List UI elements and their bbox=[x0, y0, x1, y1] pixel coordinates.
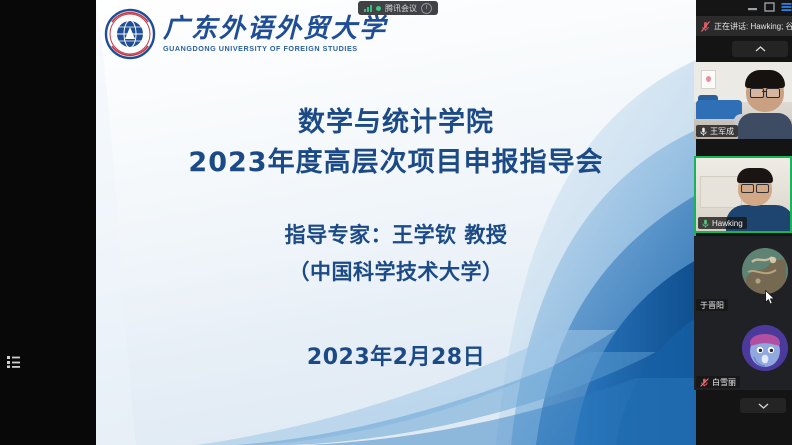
active-speaker-text: 正在讲话: Hawking; 谷 bbox=[714, 21, 792, 32]
maximize-icon bbox=[764, 2, 775, 12]
mic-muted-icon bbox=[700, 378, 709, 387]
mic-muted-icon bbox=[701, 21, 710, 32]
slide-title-line-2: 2023年度高层次项目申报指导会 bbox=[96, 140, 696, 179]
mic-on-icon bbox=[700, 127, 707, 136]
slide-affiliation-line: （中国科学技术大学） bbox=[96, 256, 696, 286]
slide-title-line-1: 数学与统计学院 bbox=[96, 100, 696, 139]
avatar-artwork-icon bbox=[742, 248, 788, 294]
chevron-up-icon bbox=[755, 46, 766, 52]
participant-tile[interactable]: Hawking bbox=[694, 156, 792, 233]
slide-text-body: 数学与统计学院 2023年度高层次项目申报指导会 指导专家：王学钦 教授 （中国… bbox=[96, 0, 696, 445]
avatar-artwork-icon bbox=[742, 325, 788, 371]
maximize-button[interactable] bbox=[764, 2, 775, 12]
mouse-cursor bbox=[765, 290, 776, 305]
chevron-down-icon bbox=[758, 403, 769, 409]
mic-on-icon bbox=[702, 219, 709, 228]
avatar bbox=[742, 248, 788, 294]
collapse-panel-button[interactable] bbox=[732, 41, 788, 57]
active-speaker-bar: 正在讲话: Hawking; 谷 bbox=[696, 16, 792, 36]
window-titlebar bbox=[696, 0, 792, 14]
participant-name: Hawking bbox=[712, 219, 743, 228]
hamburger-icon bbox=[781, 2, 792, 12]
participant-name-chip: Hawking bbox=[698, 217, 747, 229]
participant-name-chip: 王军成 bbox=[696, 125, 738, 137]
list-icon bbox=[7, 356, 20, 368]
meeting-window: 广东外语外贸大学 GUANGDONG UNIVERSITY OF FOREIGN… bbox=[0, 0, 792, 445]
participant-tile[interactable]: 白雪丽 bbox=[694, 313, 792, 390]
participant-name-chip: 白雪丽 bbox=[696, 376, 740, 388]
list-panel-button[interactable] bbox=[0, 348, 26, 376]
slide-expert-line: 指导专家：王学钦 教授 bbox=[96, 219, 696, 249]
participant-name-chip: 于晋阳 bbox=[696, 299, 728, 311]
avatar bbox=[742, 325, 788, 371]
participant-name: 于晋阳 bbox=[700, 300, 724, 311]
participant-name: 王军成 bbox=[710, 126, 734, 137]
left-rail bbox=[0, 0, 96, 445]
menu-button[interactable] bbox=[781, 2, 792, 12]
minimize-icon bbox=[747, 2, 758, 12]
slide-date-line: 2023年2月28日 bbox=[96, 339, 696, 371]
participant-name: 白雪丽 bbox=[712, 377, 736, 388]
minimize-button[interactable] bbox=[747, 2, 758, 12]
shared-screen-slide[interactable]: 广东外语外贸大学 GUANGDONG UNIVERSITY OF FOREIGN… bbox=[96, 0, 696, 445]
scroll-participants-down-button[interactable] bbox=[740, 398, 786, 413]
participant-tile[interactable]: 于晋阳 bbox=[694, 236, 792, 313]
participant-tile[interactable]: 王军成 bbox=[694, 62, 792, 139]
